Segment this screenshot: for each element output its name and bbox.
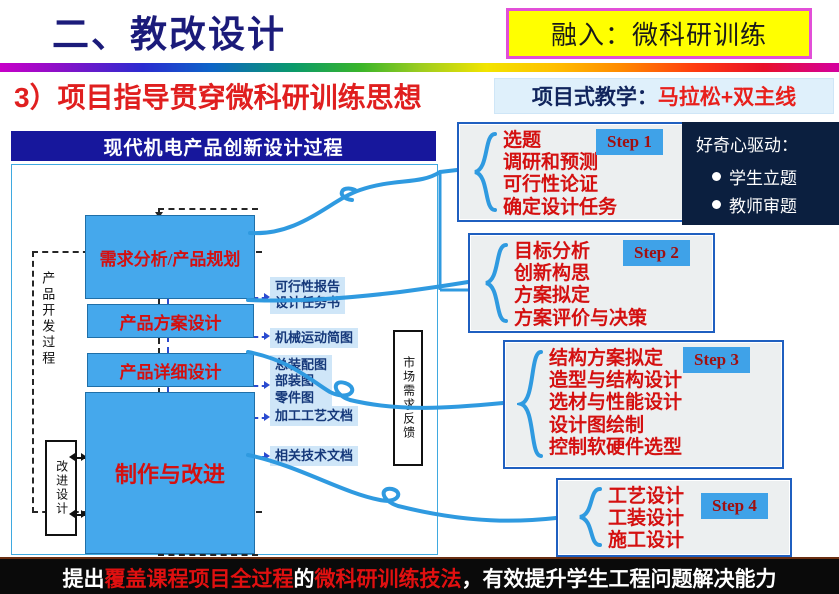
flow-box-requirement-analysis[interactable]: 需求分析/产品规划 bbox=[85, 215, 255, 299]
step-box-1[interactable]: 选题调研和预测可行性论证确定设计任务 Step 1 bbox=[457, 122, 694, 222]
step-4-line-2: 工装设计 bbox=[608, 508, 684, 530]
bottom-seg-5: ，有效提升学生工程问题解决能力 bbox=[462, 563, 777, 593]
step-box-3[interactable]: 结构方案拟定造型与结构设计选材与性能设计设计图绘制控制软硬件选型 Step 3 bbox=[503, 340, 784, 469]
brace-icon-3 bbox=[517, 349, 543, 459]
rainbow-divider bbox=[0, 63, 839, 72]
badge-integration: 融入：微科研训练 bbox=[506, 8, 812, 59]
step-3-badge: Step 3 bbox=[683, 347, 750, 373]
step-3-line-2: 造型与结构设计 bbox=[549, 370, 682, 392]
curiosity-heading: 好奇心驱动： bbox=[696, 131, 798, 156]
doc-3-line-2: 部装图 bbox=[275, 373, 327, 389]
doc-3-line-3: 零件图 bbox=[275, 390, 327, 406]
flow-box-scheme-design[interactable]: 产品方案设计 bbox=[87, 304, 254, 338]
brace-icon-1 bbox=[471, 131, 497, 213]
step-1-line-3: 可行性论证 bbox=[503, 174, 617, 196]
curiosity-item-2-label: 教师审题 bbox=[729, 192, 797, 217]
step-3-line-3: 选材与性能设计 bbox=[549, 392, 682, 414]
label-market-demand-feedback: 市场需求反馈 bbox=[393, 330, 423, 466]
step-4-line-1: 工艺设计 bbox=[608, 486, 684, 508]
step-4-badge: Step 4 bbox=[701, 493, 768, 519]
doc-3-line-1: 总装配图 bbox=[275, 357, 327, 373]
brace-icon-4 bbox=[576, 486, 602, 548]
step-1-badge: Step 1 bbox=[596, 129, 663, 155]
bottom-banner: 提出 覆盖课程项目全过程 的 微科研训练技法 ，有效提升学生工程问题解决能力 bbox=[0, 557, 839, 594]
step-2-line-2: 创新构思 bbox=[514, 263, 647, 285]
flow-box-4-label: 制作与改进 bbox=[115, 457, 225, 489]
curiosity-item-1-label: 学生立题 bbox=[729, 164, 797, 189]
step-3-line-4: 设计图绘制 bbox=[549, 415, 682, 437]
section-heading: 3）项目指导贯穿微科研训练思想 bbox=[14, 76, 422, 116]
doc-2-line-1: 机械运动简图 bbox=[275, 330, 353, 346]
step-2-badge: Step 2 bbox=[623, 240, 690, 266]
diagram-frame: 产品开发过程 改进设计 市场需求反馈 需求分析/产品规划 产品方案设计 bbox=[11, 164, 438, 555]
doc-1-line-1: 可行性报告 bbox=[275, 279, 340, 295]
curiosity-item-1: 学生立题 bbox=[712, 164, 797, 189]
step-4-line-3: 施工设计 bbox=[608, 530, 684, 552]
chain-2-3 bbox=[167, 336, 169, 353]
step-1-line-4: 确定设计任务 bbox=[503, 197, 617, 219]
badge-project-teaching: 项目式教学： 马拉松+双主线 bbox=[494, 78, 834, 114]
diagram-title: 现代机电产品创新设计过程 bbox=[11, 131, 436, 161]
step-1-line-2: 调研和预测 bbox=[503, 152, 617, 174]
badge-project-teaching-value: 马拉松+双主线 bbox=[658, 81, 796, 111]
flow-box-detail-design[interactable]: 产品详细设计 bbox=[87, 353, 254, 387]
doc-label-assembly-drawings: 总装配图 部装图 零件图 bbox=[270, 355, 332, 408]
bullet-dot-icon bbox=[712, 200, 721, 209]
doc-label-technical-documents: 相关技术文档 bbox=[270, 446, 358, 466]
doc-4-line-1: 加工工艺文档 bbox=[275, 408, 353, 424]
label-product-development-process: 产品开发过程 bbox=[40, 271, 54, 367]
flow-box-3-label: 产品详细设计 bbox=[120, 358, 222, 383]
improve-arrow-top-left bbox=[69, 453, 75, 461]
panel-curiosity-driven: 好奇心驱动： 学生立题 教师审题 bbox=[682, 122, 839, 225]
doc-label-feasibility-report: 可行性报告 设计任务书 bbox=[270, 277, 345, 314]
badge-project-teaching-label: 项目式教学： bbox=[532, 81, 658, 111]
bullet-dot-icon bbox=[712, 172, 721, 181]
bottom-seg-4: 微科研训练技法 bbox=[315, 563, 462, 593]
dashed-top-feed bbox=[158, 208, 258, 210]
curiosity-item-2: 教师审题 bbox=[712, 192, 797, 217]
bottom-seg-3: 的 bbox=[294, 563, 315, 593]
flow-box-fabrication-improvement[interactable]: 制作与改进 bbox=[85, 392, 255, 554]
improve-arrow-bottom-left bbox=[69, 510, 75, 518]
step-3-line-1: 结构方案拟定 bbox=[549, 348, 682, 370]
badge-integration-label: 融入：微科研训练 bbox=[551, 15, 767, 52]
doc-label-kinematic-diagram: 机械运动简图 bbox=[270, 328, 358, 348]
step-3-lines: 结构方案拟定造型与结构设计选材与性能设计设计图绘制控制软硬件选型 bbox=[549, 348, 682, 459]
dashed-bottom-feed bbox=[158, 554, 258, 556]
step-3-line-5: 控制软硬件选型 bbox=[549, 437, 682, 459]
bottom-seg-2: 覆盖课程项目全过程 bbox=[105, 563, 294, 593]
step-2-line-4: 方案评价与决策 bbox=[514, 308, 647, 330]
flow-box-2-label: 产品方案设计 bbox=[120, 309, 222, 334]
doc-1-line-2: 设计任务书 bbox=[275, 295, 340, 311]
step-4-lines: 工艺设计工装设计施工设计 bbox=[608, 486, 684, 553]
step-box-2[interactable]: 目标分析创新构思方案拟定方案评价与决策 Step 2 bbox=[468, 233, 715, 333]
bottom-seg-1: 提出 bbox=[63, 563, 105, 593]
slide-root: 二、教改设计 融入：微科研训练 3）项目指导贯穿微科研训练思想 项目式教学： 马… bbox=[0, 0, 839, 594]
brace-icon-2 bbox=[482, 242, 508, 324]
doc-5-line-1: 相关技术文档 bbox=[275, 448, 353, 464]
step-box-4[interactable]: 工艺设计工装设计施工设计 Step 4 bbox=[556, 478, 792, 557]
flow-box-1-label: 需求分析/产品规划 bbox=[100, 245, 241, 270]
step-2-line-3: 方案拟定 bbox=[514, 285, 647, 307]
page-title: 二、教改设计 bbox=[52, 4, 286, 58]
doc-label-process-documents: 加工工艺文档 bbox=[270, 406, 358, 426]
curve-box1-tail bbox=[440, 170, 457, 172]
